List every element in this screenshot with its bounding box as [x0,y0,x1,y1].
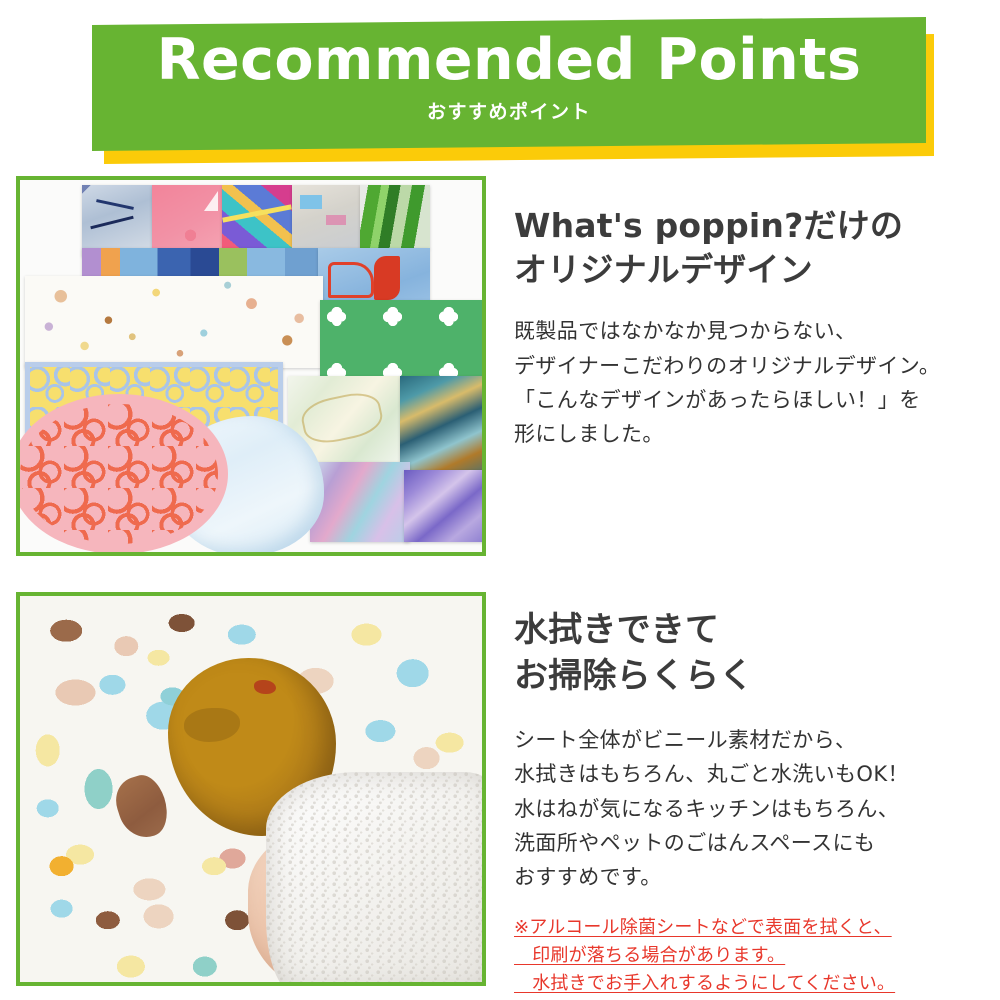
section-original-design: What's poppin?だけの オリジナルデザイン 既製品ではなかなか見つか… [16,176,988,556]
banner-title: Recommended Points [157,31,862,91]
sheet-marble-purple [404,470,482,542]
photo-wipe-demo [16,592,486,986]
sheet-pink [152,185,222,257]
photo-design-collage-content [20,180,482,552]
photo-design-collage [16,176,486,556]
sheet-graffiti-1 [82,185,152,257]
text-column-2: 水拭きできて お掃除らくらく シート全体がビニール素材だから、 水拭きはもちろん… [514,592,988,998]
section-easy-cleaning: 水拭きできて お掃除らくらく シート全体がビニール素材だから、 水拭きはもちろん… [16,592,988,998]
section-note-warning: ※アルコール除菌シートなどで表面を拭くと、 印刷が落ちる場合があります。 水拭き… [514,914,988,998]
banner-green-plate: Recommended Points おすすめポイント [92,17,926,151]
banner-subtitle: おすすめポイント [427,97,591,124]
sheet-green-stripe [360,185,430,249]
section-heading-2: 水拭きできて お掃除らくらく [514,608,988,699]
white-towel [266,772,482,982]
sheet-graffiti-3 [292,185,360,253]
section-body-2: シート全体がビニール素材だから、 水拭きはもちろん、丸ごと水洗いもOK！ 水はね… [514,723,988,894]
section-heading-1: What's poppin?だけの オリジナルデザイン [514,204,988,292]
photo-wipe-demo-content [20,596,482,982]
section-body-1: 既製品ではなかなか見つからない、 デザイナーこだわりのオリジナルデザイン。 「こ… [514,314,988,451]
sheet-graffiti-band [82,248,318,278]
header-banner: Recommended Points おすすめポイント [0,0,1000,172]
text-column-1: What's poppin?だけの オリジナルデザイン 既製品ではなかなか見つか… [514,176,988,451]
sheet-graffiti-2 [222,185,292,257]
promo-page: Recommended Points おすすめポイント [0,0,1000,1000]
sheet-marble-teal [400,376,482,478]
sheet-marble-pastel [310,462,410,542]
sheet-terrazzo [25,276,323,368]
sheet-pink-round-mat [20,394,228,552]
